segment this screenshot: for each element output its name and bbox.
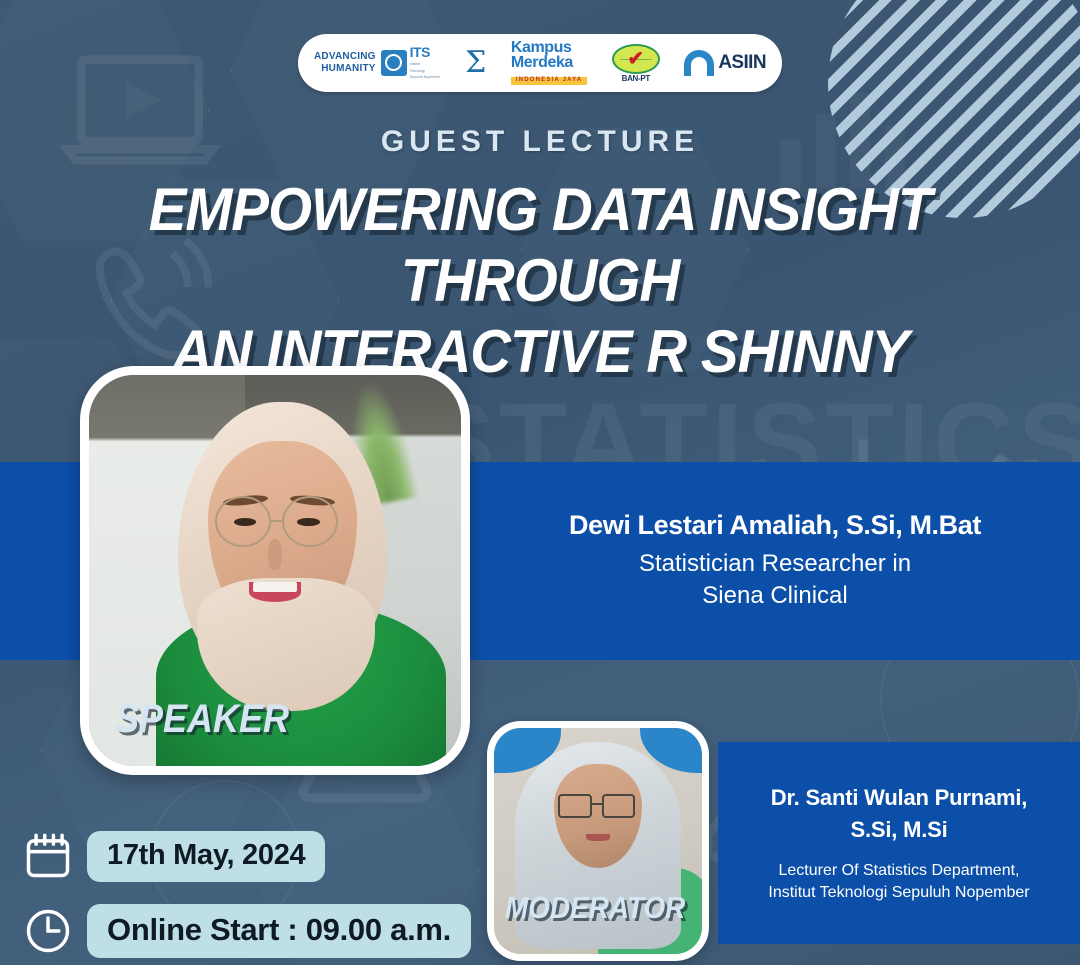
moderator-role: Lecturer Of Statistics Department, Insti…	[768, 860, 1029, 905]
logo-its: ADVANCING HUMANITY ITS Institut Teknolog…	[314, 45, 441, 80]
moderator-role-line2: Institut Teknologi Sepuluh Nopember	[768, 884, 1029, 901]
asiin-arc-icon	[684, 50, 714, 76]
moderator-name: Dr. Santi Wulan Purnami, S.Si, M.Si	[771, 782, 1027, 846]
advancing-humanity-line2: HUMANITY	[321, 63, 375, 74]
its-abbr: ITS	[410, 44, 430, 60]
moderator-info: Dr. Santi Wulan Purnami, S.Si, M.Si Lect…	[718, 742, 1080, 944]
moderator-name-line2: S.Si, M.Si	[850, 817, 947, 842]
logo-ban-pt: ✔ BAN-PT	[612, 44, 660, 83]
logo-asiin: ASIIN	[684, 50, 766, 76]
speaker-role: Statistician Researcher in Siena Clinica…	[639, 548, 911, 612]
laptop-video-icon	[55, 40, 225, 180]
date-row: 17th May, 2024	[20, 828, 325, 884]
calendar-icon	[20, 828, 76, 884]
clock-icon	[20, 903, 76, 959]
hex-shape	[230, 0, 460, 200]
eyebrow-heading: GUEST LECTURE	[0, 125, 1080, 159]
its-sub-line2: Teknologi	[410, 69, 441, 74]
advancing-humanity-text: ADVANCING HUMANITY	[314, 51, 376, 74]
moderator-role-tag: MODERATOR	[505, 890, 685, 926]
advancing-humanity-line1: ADVANCING	[314, 51, 376, 62]
speaker-role-line1: Statistician Researcher in	[639, 550, 911, 577]
time-value: Online Start : 09.00 a.m.	[87, 904, 471, 958]
asiin-label: ASIIN	[718, 52, 766, 74]
guest-lecture-poster: STATISTICS ADVANCING HUMANITY ITS Instit…	[0, 0, 1080, 965]
banpt-globe-icon: ✔	[612, 44, 660, 74]
its-emblem-icon	[381, 50, 407, 76]
kampus-merdeka-tagline: INDONESIA JAYA	[511, 77, 588, 85]
speaker-role-tag: SPEAKER	[115, 697, 289, 742]
logo-sigma-statistics: Σ	[465, 48, 486, 78]
banpt-label: BAN-PT	[612, 75, 660, 83]
page-title: EMPOWERING DATA INSIGHT THROUGH AN INTER…	[32, 175, 1047, 387]
speaker-info: Dewi Lestari Amaliah, S.Si, M.Bat Statis…	[470, 462, 1080, 660]
its-sub-line1: Institut	[410, 62, 441, 67]
its-wordmark: ITS Institut Teknologi Sepuluh Nopember	[410, 45, 441, 80]
time-row: Online Start : 09.00 a.m.	[20, 903, 471, 959]
sigma-curve-icon: Σ	[465, 48, 486, 78]
title-line-1: EMPOWERING DATA INSIGHT THROUGH	[149, 176, 932, 314]
speaker-name: Dewi Lestari Amaliah, S.Si, M.Bat	[569, 510, 981, 541]
moderator-name-line1: Dr. Santi Wulan Purnami,	[771, 785, 1027, 810]
kampus-merdeka-line2: Merdeka	[511, 56, 588, 71]
moderator-role-line1: Lecturer Of Statistics Department,	[779, 862, 1020, 879]
speaker-role-line2: Siena Clinical	[702, 582, 847, 609]
date-value: 17th May, 2024	[87, 831, 325, 882]
banpt-check-icon: ✔	[627, 49, 644, 69]
logo-kampus-merdeka: Kampus Merdeka INDONESIA JAYA	[511, 41, 588, 85]
logo-bar: ADVANCING HUMANITY ITS Institut Teknolog…	[298, 34, 782, 92]
its-sub-line3: Sepuluh Nopember	[410, 75, 441, 80]
